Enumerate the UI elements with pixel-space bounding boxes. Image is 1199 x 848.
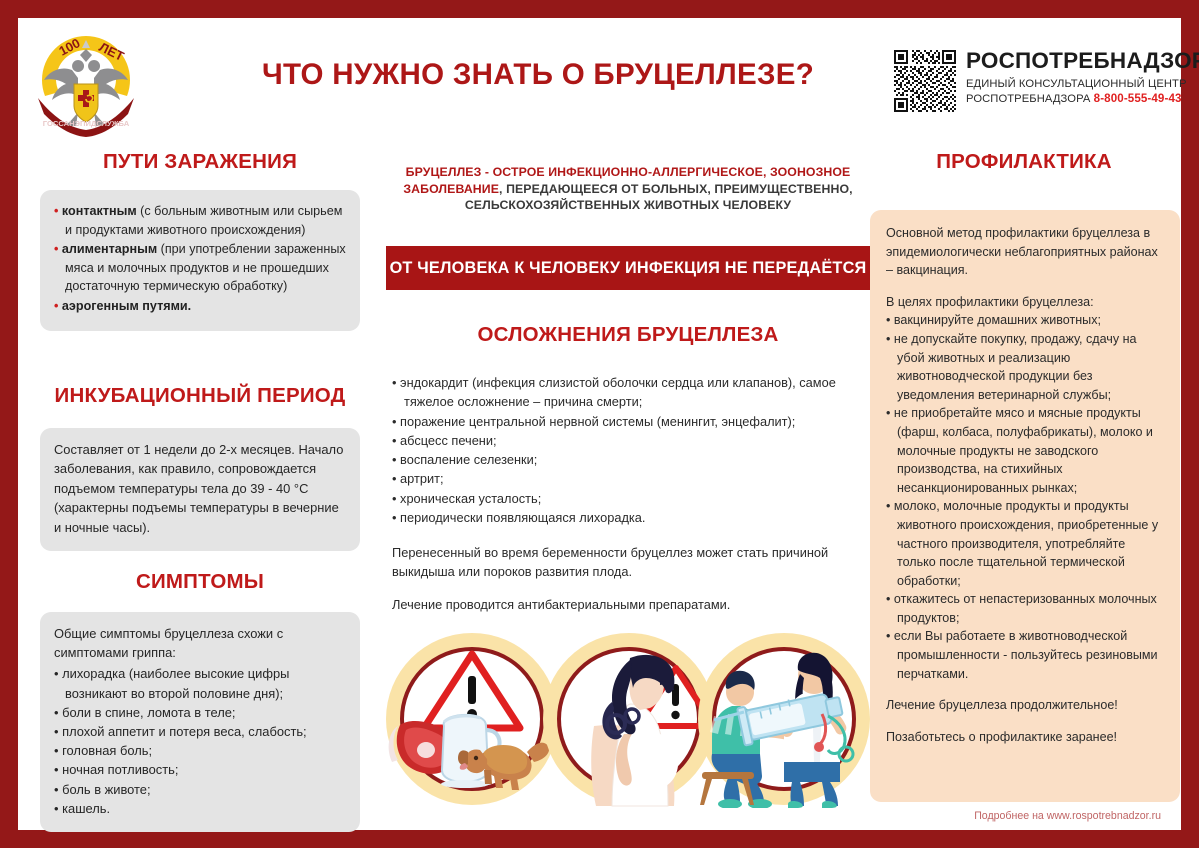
symptoms-intro: Общие симптомы бруцеллеза схожи с симпто… (54, 624, 346, 662)
list-item-label: артрит; (400, 471, 444, 486)
list-item-bold: контактным (62, 204, 137, 218)
bullet-icon: • (886, 629, 894, 643)
list-item: • периодически появляющаяся лихорадка. (392, 508, 868, 527)
incubation-text: Составляет от 1 недели до 2-х месяцев. Н… (54, 440, 346, 537)
list-item-label: не приобретайте мясо и мясные продукты (… (894, 406, 1153, 494)
list-item-label: ночная потливость; (62, 762, 178, 777)
list-item: • контактным (с больным животным или сыр… (54, 202, 346, 239)
list-item-bold: алиментарным (62, 242, 157, 256)
hotline-phone[interactable]: 8-800-555-49-43 (1094, 92, 1182, 105)
list-item: • плохой аппетит и потеря веса, слабость… (54, 722, 346, 741)
poster-header: 100 ЛЕТ (18, 18, 1181, 138)
page-title: ЧТО НУЖНО ЗНАТЬ О БРУЦЕЛЛЕЗЕ? (218, 58, 858, 92)
panel-prevention: Основной метод профилактики бруцеллеза в… (870, 210, 1180, 802)
bullet-icon: • (886, 313, 894, 327)
list-item-bold: аэрогенным путями. (62, 299, 191, 313)
bullet-icon: • (392, 375, 400, 390)
panel-incubation: Составляет от 1 недели до 2-х месяцев. Н… (40, 428, 360, 551)
list-item-label: головная боль; (62, 743, 152, 758)
bullet-icon: • (392, 414, 400, 429)
footer-website-note[interactable]: Подробнее на www.rospotrebnadzor.ru (18, 810, 1181, 822)
list-item: • не допускайте покупку, продажу, сдачу … (886, 330, 1164, 404)
symptoms-list: • лихорадка (наиболее высокие цифры возн… (54, 664, 346, 818)
panel-symptoms: Общие симптомы бруцеллеза схожи с симпто… (40, 612, 360, 832)
bullet-icon: • (392, 452, 400, 467)
complications-block: • эндокардит (инфекция слизистой оболочк… (392, 373, 868, 527)
list-item: • абсцесс печени; (392, 431, 868, 450)
brand-subtitle-line1: ЕДИНЫЙ КОНСУЛЬТАЦИОННЫЙ ЦЕНТР (966, 77, 1187, 92)
bullet-icon: • (392, 510, 400, 525)
list-item: • боли в спине, ломота в теле; (54, 703, 346, 722)
list-item: • поражение центральной нервной системы … (392, 412, 868, 431)
list-item-label: периодически появляющаяся лихорадка. (400, 510, 645, 525)
bullet-icon: • (54, 743, 62, 758)
bullet-icon: • (54, 782, 62, 797)
qr-code-icon[interactable] (894, 50, 956, 112)
pregnancy-paragraph: Перенесенный во время беременности бруце… (392, 543, 862, 582)
list-item: • лихорадка (наиболее высокие цифры возн… (54, 664, 346, 702)
list-item-label: лихорадка (наиболее высокие цифры возник… (62, 666, 289, 700)
bullet-icon: • (54, 724, 62, 739)
list-item-label: хроническая усталость; (400, 491, 541, 506)
section-heading-transmission: ПУТИ ЗАРАЖЕНИЯ (40, 150, 360, 174)
list-item: • алиментарным (при употреблении заражен… (54, 240, 346, 296)
list-item-label: боль в животе; (62, 782, 150, 797)
no-human-transmission-banner: ОТ ЧЕЛОВЕКА К ЧЕЛОВЕКУ ИНФЕКЦИЯ НЕ ПЕРЕД… (386, 246, 870, 290)
complications-list: • эндокардит (инфекция слизистой оболочк… (392, 373, 868, 527)
prevention-intro: Основной метод профилактики бруцеллеза в… (886, 224, 1164, 280)
list-item: • артрит; (392, 469, 868, 488)
bullet-icon: • (54, 705, 62, 720)
panel-transmission: • контактным (с больным животным или сыр… (40, 190, 360, 331)
bullet-icon: • (886, 592, 894, 606)
list-item-label: молоко, молочные продукты и продукты жив… (894, 499, 1158, 587)
list-item: • воспаление селезенки; (392, 450, 868, 469)
prevention-closing-2: Позаботьтесь о профилактике заранее! (886, 728, 1164, 747)
brand-name: РОСПОТРЕБНАДЗОР (966, 48, 1199, 74)
list-item-label: воспаление селезенки; (400, 452, 537, 467)
transmission-list: • контактным (с больным животным или сыр… (54, 202, 346, 316)
lead-paragraph: БРУЦЕЛЛЕЗ - ОСТРОЕ ИНФЕКЦИОННО-АЛЛЕРГИЧЕ… (386, 164, 870, 214)
bullet-icon: • (54, 242, 58, 256)
bullet-icon: • (886, 332, 894, 346)
treatment-paragraph: Лечение проводится антибактериальными пр… (392, 595, 862, 614)
poster-sheet: 100 ЛЕТ (18, 18, 1181, 830)
list-item-label: боли в спине, ломота в теле; (62, 705, 235, 720)
list-item-label: поражение центральной нервной системы (м… (400, 414, 795, 429)
list-item-label: плохой аппетит и потеря веса, слабость; (62, 724, 307, 739)
bullet-icon: • (54, 666, 62, 681)
prevention-list-title: В целях профилактики бруцеллеза: (886, 293, 1164, 312)
prevention-list: • вакцинируйте домашних животных; • не д… (886, 311, 1164, 683)
list-item: • боль в животе; (54, 780, 346, 799)
illustration-meat-milk-dog (386, 633, 558, 805)
spacer (886, 280, 1164, 293)
illustration-pregnant-woman (543, 633, 715, 806)
list-item-label: если Вы работаете в животноводческой про… (894, 629, 1158, 680)
list-item: • вакцинируйте домашних животных; (886, 311, 1164, 330)
bullet-icon: • (54, 762, 62, 777)
svg-text:ГОССАНЭПИДСЛУЖБА: ГОССАНЭПИДСЛУЖБА (43, 119, 130, 128)
list-item: • ночная потливость; (54, 760, 346, 779)
list-item-label: не допускайте покупку, продажу, сдачу на… (894, 332, 1137, 402)
bullet-icon: • (392, 433, 400, 448)
list-item: • эндокардит (инфекция слизистой оболочк… (392, 373, 868, 412)
bullet-icon: • (886, 406, 894, 420)
list-item-label: эндокардит (инфекция слизистой оболочки … (400, 375, 836, 409)
brand-subtitle-line2: РОСПОТРЕБНАДЗОРА 8-800-555-49-43 (966, 92, 1182, 105)
lead-rest: , ПЕРЕДАЮЩЕЕСЯ ОТ БОЛЬНЫХ, ПРЕИМУЩЕСТВЕН… (465, 182, 853, 213)
list-item: • аэрогенным путями. (54, 297, 346, 316)
section-heading-complications: ОСЛОЖНЕНИЯ БРУЦЕЛЛЕЗА (386, 323, 870, 347)
bullet-icon: • (54, 299, 58, 313)
list-item-label: откажитесь от непастеризованных молочных… (894, 592, 1157, 625)
poster-frame: 100 ЛЕТ (0, 0, 1199, 848)
prevention-closing-1: Лечение бруцеллеза продолжительное! (886, 696, 1164, 715)
list-item: • не приобретайте мясо и мясные продукты… (886, 404, 1164, 497)
brand-subtitle-line2-text: РОСПОТРЕБНАДЗОРА (966, 93, 1090, 105)
list-item: • если Вы работаете в животноводческой п… (886, 627, 1164, 683)
section-heading-incubation: ИНКУБАЦИОННЫЙ ПЕРИОД (40, 384, 360, 408)
illustration-vaccination (698, 633, 870, 808)
spacer (886, 683, 1164, 696)
bullet-icon: • (392, 491, 400, 506)
list-item: • откажитесь от непастеризованных молочн… (886, 590, 1164, 627)
bullet-icon: • (392, 471, 400, 486)
spacer (886, 715, 1164, 728)
section-heading-symptoms: СИМПТОМЫ (40, 570, 360, 594)
illustration-group (384, 630, 874, 808)
list-item: • молоко, молочные продукты и продукты ж… (886, 497, 1164, 590)
list-item: • хроническая усталость; (392, 489, 868, 508)
list-item-label: абсцесс печени; (400, 433, 497, 448)
section-heading-prevention: ПРОФИЛАКТИКА (866, 150, 1182, 174)
rospotrebnadzor-emblem-icon: 100 ЛЕТ (32, 26, 140, 138)
list-item-label: вакцинируйте домашних животных; (894, 313, 1101, 327)
bullet-icon: • (886, 499, 894, 513)
brand-block: РОСПОТРЕБНАДЗОР ЕДИНЫЙ КОНСУЛЬТАЦИОННЫЙ … (894, 48, 1179, 134)
list-item: • головная боль; (54, 741, 346, 760)
bullet-icon: • (54, 204, 58, 218)
